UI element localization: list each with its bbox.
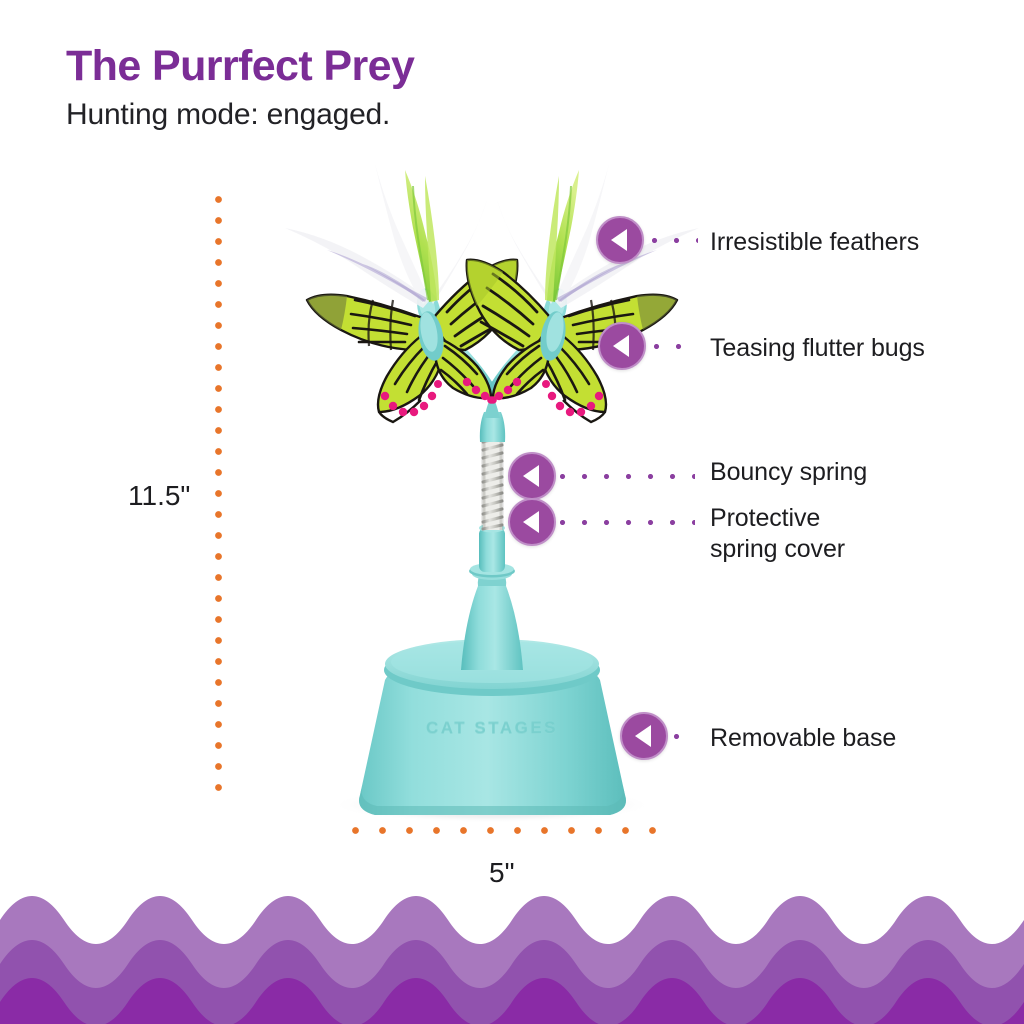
triangle-left-icon [635, 725, 651, 747]
feather-left [285, 164, 487, 308]
triangle-left-icon [613, 335, 629, 357]
header: The Purrfect Prey Hunting mode: engaged. [66, 44, 414, 132]
page-subtitle: Hunting mode: engaged. [66, 98, 414, 132]
callout-badge-base[interactable] [620, 712, 668, 760]
callout-badge-feathers[interactable] [596, 216, 644, 264]
callout-label-spring-cover: Protective spring cover [710, 503, 845, 565]
callout-leader-spring [560, 474, 695, 479]
callout-leader-base [674, 734, 696, 739]
infographic-page: The Purrfect Prey Hunting mode: engaged.… [0, 0, 1024, 1024]
callout-badge-spring[interactable] [508, 452, 556, 500]
svg-text:CAT STAGES: CAT STAGES [426, 718, 558, 737]
height-dimension-line [215, 196, 222, 800]
callout-badge-spring-cover[interactable] [508, 498, 556, 546]
callout-leader-flutter-bugs [654, 344, 698, 349]
callout-label-flutter-bugs: Teasing flutter bugs [710, 333, 925, 364]
triangle-left-icon [523, 511, 539, 533]
callout-label-spring: Bouncy spring [710, 457, 867, 488]
wave-decoration [0, 884, 1024, 1024]
callout-leader-feathers [652, 238, 698, 243]
triangle-left-icon [523, 465, 539, 487]
callout-leader-spring-cover [560, 520, 695, 525]
callout-badge-flutter-bugs[interactable] [598, 322, 646, 370]
triangle-left-icon [611, 229, 627, 251]
spring-coil [482, 436, 504, 530]
callout-label-base: Removable base [710, 723, 896, 754]
height-dimension-label: 11.5" [128, 480, 190, 512]
page-title: The Purrfect Prey [66, 44, 414, 89]
callout-label-feathers: Irresistible feathers [710, 227, 919, 258]
